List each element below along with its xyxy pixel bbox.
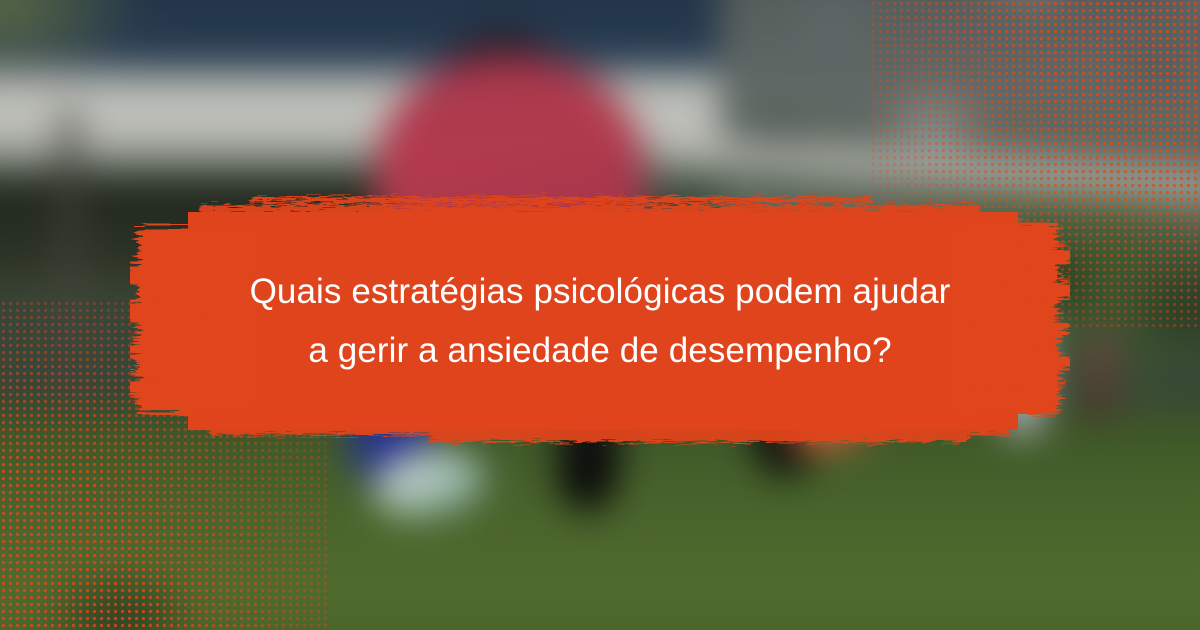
social-card: Quais estratégias psicológicas podem aju… <box>0 0 1200 630</box>
headline-text: Quais estratégias psicológicas podem aju… <box>170 262 1030 380</box>
